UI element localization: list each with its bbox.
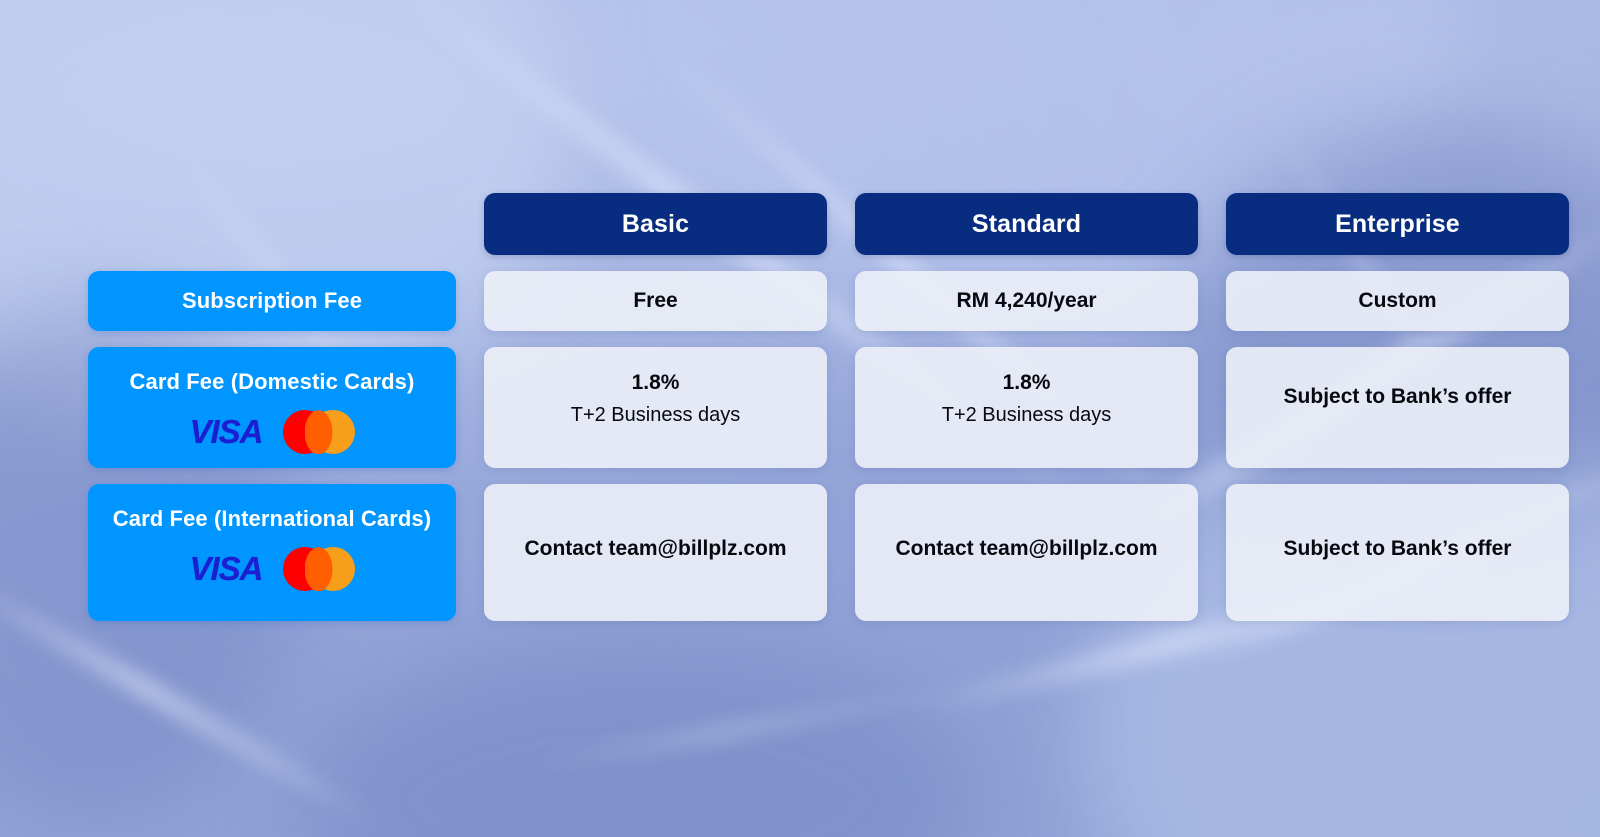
cell-primary-text: Contact team@billplz.com [524,537,786,561]
mastercard-logo [283,547,355,591]
table-cell-subscription-standard: RM 4,240/year [855,271,1198,347]
row-label-text: Card Fee (Domestic Cards) [130,369,415,394]
table-cell-subscription-basic: Free [484,271,827,347]
cell-primary-text: RM 4,240/year [956,289,1096,313]
cell-primary-text: 1.8% [632,371,680,395]
cell-secondary-text: T+2 Business days [942,404,1112,427]
row-label-text: Subscription Fee [182,288,362,313]
column-header-label: Enterprise [1335,210,1460,239]
column-header-enterprise[interactable]: Enterprise [1226,193,1569,271]
table-cell-domestic-standard: 1.8% T+2 Business days [855,347,1198,484]
table-cell-international-basic: Contact team@billplz.com [484,484,827,621]
column-header-label: Standard [972,210,1081,239]
table-cell-subscription-enterprise: Custom [1226,271,1569,347]
row-label-text: Card Fee (International Cards) [113,506,431,531]
table-corner-cell [88,193,456,271]
card-network-logos: VISA [189,410,354,454]
table-cell-domestic-basic: 1.8% T+2 Business days [484,347,827,484]
mastercard-logo [283,410,355,454]
row-label-subscription-fee: Subscription Fee [88,271,456,347]
cell-primary-text: Subject to Bank’s offer [1284,385,1512,409]
cell-secondary-text: T+2 Business days [571,404,741,427]
cell-primary-text: Custom [1358,289,1436,313]
cell-primary-text: Contact team@billplz.com [895,537,1157,561]
column-header-standard[interactable]: Standard [855,193,1198,271]
cell-primary-text: 1.8% [1003,371,1051,395]
card-network-logos: VISA [189,547,354,591]
visa-logo: VISA [189,550,262,588]
visa-logo: VISA [189,413,262,451]
cell-primary-text: Free [633,289,677,313]
row-label-card-fee-domestic: Card Fee (Domestic Cards) VISA [88,347,456,484]
table-cell-international-enterprise: Subject to Bank’s offer [1226,484,1569,621]
column-header-basic[interactable]: Basic [484,193,827,271]
column-header-label: Basic [622,210,689,239]
cell-primary-text: Subject to Bank’s offer [1284,537,1512,561]
table-cell-international-standard: Contact team@billplz.com [855,484,1198,621]
row-label-card-fee-international: Card Fee (International Cards) VISA [88,484,456,621]
pricing-comparison-table: Basic Standard Enterprise Subscription F… [88,193,1513,625]
table-cell-domestic-enterprise: Subject to Bank’s offer [1226,347,1569,484]
